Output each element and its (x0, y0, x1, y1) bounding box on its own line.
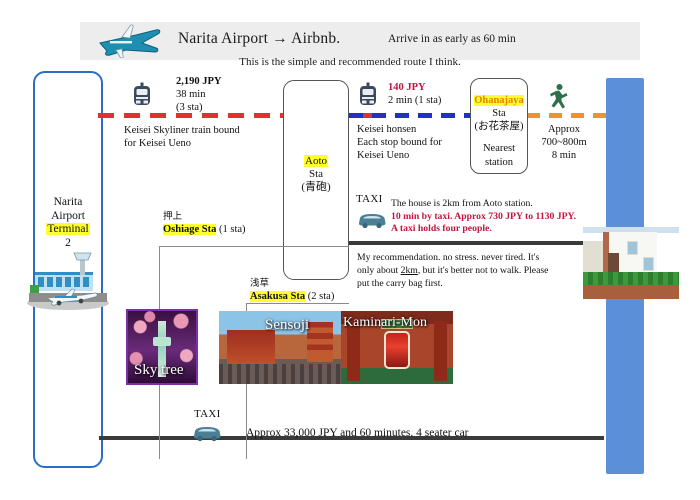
narita-airport-label: Narita Airport Terminal 2 (33, 196, 103, 250)
skyliner-line-1: Keisei Skyliner train bound (124, 125, 240, 136)
leg-skyliner-name: Keisei Skyliner train bound for Keisei U… (124, 125, 240, 151)
photo-house (583, 227, 679, 299)
skyliner-line-2: for Keisei Ueno (124, 138, 191, 149)
leg-honsen-stats: 140 JPY 2 min (1 sta) (388, 82, 441, 108)
photo-skytree-caption: Sky tree (134, 362, 184, 379)
skyliner-fare: 2,190 JPY (176, 76, 222, 87)
narita-line1: Narita (54, 196, 83, 208)
taxi-aoto-word: TAXI (356, 193, 383, 205)
taxi-direct-word: TAXI (194, 408, 221, 420)
walk-route-dash (527, 113, 615, 118)
walk-distance: 700~800m (541, 137, 586, 148)
honsen-duration: 2 min (1 sta) (388, 95, 441, 106)
recommend-line-2c: , but it's better not to walk. Please (418, 265, 549, 276)
branch-oshiage-label: 押上 Oshiage Sta (1 sta) (163, 211, 246, 237)
narita-terminal-highlight: Terminal (46, 223, 89, 235)
walk-approx: Approx (548, 124, 580, 135)
honsen-line-3: Keisei Ueno (357, 150, 409, 161)
station-ohanajaya-sta: Sta (492, 108, 505, 119)
photo-kaminarimon-caption: Kaminari-Mon (343, 315, 427, 331)
taxi-aoto-line-2: 10 min by taxi. Approx 730 JPY to 1130 J… (391, 211, 576, 222)
recommend-line-3: put the carry bag first. (357, 278, 443, 289)
photo-sensoji: Sensoji (219, 311, 349, 384)
taxi-car-icon (192, 422, 222, 442)
branch-asakusa-label: 浅草 Asakusa Sta (2 sta) (250, 278, 334, 304)
station-ohanajaya-jp: (お花茶屋) (475, 121, 524, 132)
train-icon (131, 82, 153, 108)
station-ohanajaya-nearest-1: Nearest (466, 142, 532, 155)
taxi-aoto-info: The house is 2km from Aoto station. 10 m… (391, 198, 576, 236)
skyliner-duration: 38 min (176, 89, 205, 100)
sensoji-pagoda-shape (307, 322, 333, 362)
airplane-icon (96, 24, 162, 58)
recommend-line-1: My recommendation. no stress. never tire… (357, 252, 539, 263)
honsen-fare: 140 JPY (388, 82, 426, 93)
sensoji-gate-shape (227, 330, 275, 366)
station-aoto-sta: Sta (309, 168, 323, 180)
branch-oshiage-jp: 押上 (163, 212, 182, 222)
kaminarimon-lantern (384, 331, 410, 369)
taxi-aoto-line-1: The house is 2km from Aoto station. (391, 198, 533, 209)
station-aoto-name: Aoto (304, 155, 328, 167)
skyliner-stations: (3 sta) (176, 102, 203, 113)
header-subtitle: Arrive in as early as 60 min (388, 33, 516, 45)
recommendation-note: My recommendation. no stress. never tire… (357, 252, 592, 290)
house-window-1 (627, 241, 638, 255)
taxi-aoto-line-3: A taxi holds four people. (391, 223, 492, 234)
recommend-distance: 2km (401, 265, 418, 276)
honsen-line-1: Keisei honsen (357, 124, 416, 135)
rail-taxi-aoto (349, 241, 599, 245)
branch-asakusa-name: Asakusa Sta (250, 291, 305, 302)
route-diagram: Narita Airport → Airbnb. Arrive in as ea… (0, 0, 700, 500)
house-hedge-shape (583, 272, 679, 285)
honsen-line-2: Each stop bound for (357, 137, 442, 148)
leg-walk-stats: Approx 700~800m 8 min (536, 124, 592, 162)
honsen-route-dash (349, 113, 470, 118)
house-window-2 (643, 257, 654, 271)
page-title: Narita Airport → Airbnb. (178, 30, 340, 48)
recommend-line-2a: only about (357, 265, 401, 276)
walk-duration: 8 min (552, 150, 576, 161)
branch-oshiage-name: Oshiage Sta (163, 224, 216, 235)
train-icon (357, 82, 379, 108)
photo-skytree: Sky tree (126, 309, 198, 385)
station-ohanajaya-label: Ohanajaya Sta (お花茶屋) Nearest station (466, 94, 532, 169)
branch-asakusa-stations: (2 sta) (308, 291, 335, 302)
photo-sensoji-caption: Sensoji (265, 317, 309, 334)
photo-kaminarimon: Kaminari-Mon (341, 311, 453, 384)
leg-skyliner-stats: 2,190 JPY 38 min (3 sta) (176, 76, 222, 114)
header-note: This is the simple and recommended route… (0, 56, 700, 68)
branch-oshiage-line-h (159, 246, 349, 247)
station-ohanajaya-nearest-2: station (485, 157, 513, 168)
kaminarimon-pillar-right (434, 321, 447, 381)
header-band (80, 22, 640, 60)
station-ohanajaya-name: Ohanajaya (474, 95, 524, 106)
sensoji-crowd-shape (219, 364, 349, 384)
station-aoto-label: Aoto Sta (青砲) (283, 155, 349, 195)
airport-terminal-icon (25, 245, 111, 310)
branch-oshiage-stations: (1 sta) (219, 224, 246, 235)
branch-asakusa-jp: 浅草 (250, 279, 269, 289)
narita-line2: Airport (51, 210, 85, 222)
taxi-car-icon (357, 209, 387, 229)
leg-honsen-name: Keisei honsen Each stop bound for Keisei… (357, 124, 442, 162)
walk-icon (548, 83, 570, 109)
station-aoto-jp: (青砲) (301, 181, 330, 193)
taxi-direct-info: Approx 33,000 JPY and 60 minutes. 4 seat… (246, 427, 469, 439)
